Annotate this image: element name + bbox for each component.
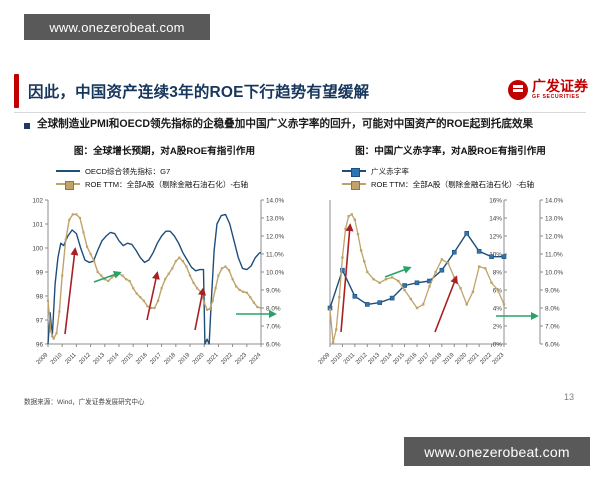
x-axis-ticks: 2009201020112012201320142015201620172018…	[318, 344, 506, 366]
svg-text:11.0%: 11.0%	[545, 252, 563, 259]
series-roe-line	[48, 214, 261, 338]
svg-text:9.0%: 9.0%	[545, 288, 560, 295]
arrow-red-3	[195, 290, 203, 330]
arrow-red-2	[147, 274, 157, 320]
svg-text:8.0%: 8.0%	[266, 306, 281, 313]
right-axis-ticks: 6.0%7.0%8.0%9.0%10.0%11.0%12.0%13.0%14.0…	[261, 198, 284, 349]
svg-text:2011: 2011	[64, 352, 78, 366]
svg-text:2014: 2014	[107, 352, 121, 366]
chart-right-plot: 0%2%4%6%8%10%12%14%16% 6.0%7.0%8.0%9.0%1…	[308, 192, 593, 377]
svg-text:4%: 4%	[493, 306, 503, 313]
title-divider	[14, 112, 586, 113]
svg-text:14.0%: 14.0%	[545, 198, 563, 205]
chart-panel-left: 图：全球增长预期，对A股ROE有指引作用 OECD综合领先指标：G7 ROE T…	[22, 143, 307, 398]
svg-text:12.0%: 12.0%	[266, 234, 284, 241]
svg-text:16%: 16%	[489, 198, 502, 205]
svg-text:102: 102	[32, 198, 43, 205]
svg-text:2014: 2014	[380, 352, 394, 366]
series-roe-markers	[329, 213, 505, 343]
svg-text:14%: 14%	[489, 216, 502, 223]
chart-left-svg: 96979899100101102 6.0%7.0%8.0%9.0%10.0%1…	[22, 192, 307, 377]
legend-label: ROE TTM：全部A股（剔除金融石油石化）-右轴	[85, 179, 248, 190]
svg-text:2018: 2018	[430, 352, 444, 366]
arrow-green-1	[385, 268, 409, 277]
svg-text:99: 99	[36, 270, 44, 277]
svg-text:13.0%: 13.0%	[545, 216, 563, 223]
title-accent-bar	[14, 74, 19, 108]
svg-text:101: 101	[32, 222, 43, 229]
svg-text:11.0%: 11.0%	[266, 252, 284, 259]
watermark-bottom: www.onezerobeat.com	[404, 437, 590, 466]
slide: www.onezerobeat.com 因此，中国资产连续3年的ROE下行趋势有…	[0, 0, 600, 480]
svg-text:2020: 2020	[192, 352, 206, 366]
svg-text:2021: 2021	[467, 352, 481, 366]
svg-text:2012: 2012	[78, 352, 92, 366]
svg-text:98: 98	[36, 294, 44, 301]
brand-logo: 广发证券 GF SECURITIES	[508, 79, 588, 100]
svg-text:2009: 2009	[36, 352, 50, 366]
svg-text:2010: 2010	[330, 352, 344, 366]
page-number: 13	[564, 392, 574, 402]
svg-text:2012: 2012	[355, 352, 369, 366]
left-axis-ticks: 96979899100101102	[32, 198, 48, 349]
svg-text:9.0%: 9.0%	[266, 288, 281, 295]
svg-text:6.0%: 6.0%	[545, 342, 560, 349]
arrow-red-1	[341, 226, 350, 332]
svg-text:13.0%: 13.0%	[266, 216, 284, 223]
svg-text:2022: 2022	[220, 352, 234, 366]
svg-text:2023: 2023	[235, 352, 249, 366]
chart-right-svg: 0%2%4%6%8%10%12%14%16% 6.0%7.0%8.0%9.0%1…	[308, 192, 593, 377]
svg-text:2013: 2013	[93, 352, 107, 366]
svg-text:2017: 2017	[149, 352, 163, 366]
svg-text:14.0%: 14.0%	[266, 198, 284, 205]
chart-panel-right: 图：中国广义赤字率，对A股ROE有指引作用 广义赤字率 ROE TTM：全部A股…	[308, 143, 593, 398]
svg-text:10.0%: 10.0%	[266, 270, 284, 277]
svg-text:2019: 2019	[178, 352, 192, 366]
svg-text:2020: 2020	[454, 352, 468, 366]
arrow-red-2	[435, 278, 456, 332]
logo-chinese-name: 广发证券	[532, 79, 588, 93]
svg-text:2016: 2016	[405, 352, 419, 366]
series-roe-markers	[47, 213, 262, 339]
logo-mark-icon	[508, 80, 528, 100]
annotation-arrows	[341, 226, 536, 332]
svg-text:2021: 2021	[206, 352, 220, 366]
svg-text:8%: 8%	[493, 270, 503, 277]
bullet-square-icon	[24, 123, 30, 129]
svg-text:10.0%: 10.0%	[545, 270, 563, 277]
legend-label: ROE TTM：全部A股（剔除金融石油石化）-右轴	[371, 179, 534, 190]
legend-item: OECD综合领先指标：G7	[56, 166, 307, 176]
watermark-top: www.onezerobeat.com	[24, 14, 210, 40]
svg-text:2009: 2009	[318, 352, 332, 366]
svg-text:0%: 0%	[493, 342, 503, 349]
svg-text:12.0%: 12.0%	[545, 234, 563, 241]
chart-left-plot: 96979899100101102 6.0%7.0%8.0%9.0%10.0%1…	[22, 192, 307, 377]
logo-english-name: GF SECURITIES	[532, 95, 588, 100]
svg-text:7.0%: 7.0%	[266, 324, 281, 331]
svg-text:97: 97	[36, 318, 44, 325]
svg-text:2010: 2010	[50, 352, 64, 366]
chart-right-legend: 广义赤字率 ROE TTM：全部A股（剔除金融石油石化）-右轴	[342, 166, 593, 189]
legend-item: ROE TTM：全部A股（剔除金融石油石化）-右轴	[342, 179, 593, 189]
bullet-row: 全球制造业PMI和OECD领先指标的企稳叠加中国广义赤字率的回升，可能对中国资产…	[24, 118, 584, 132]
series-deficit-markers	[328, 231, 506, 310]
svg-text:2024: 2024	[249, 352, 263, 366]
page-title: 因此，中国资产连续3年的ROE下行趋势有望缓解	[28, 80, 369, 102]
chart-right-title: 图：中国广义赤字率，对A股ROE有指引作用	[308, 143, 593, 157]
legend-item: 广义赤字率	[342, 166, 593, 176]
svg-text:2023: 2023	[492, 352, 506, 366]
svg-text:12%: 12%	[489, 234, 502, 241]
svg-text:7.0%: 7.0%	[545, 324, 560, 331]
svg-text:6.0%: 6.0%	[266, 342, 281, 349]
svg-text:2018: 2018	[164, 352, 178, 366]
svg-text:2016: 2016	[135, 352, 149, 366]
svg-text:2%: 2%	[493, 324, 503, 331]
svg-text:2017: 2017	[417, 352, 431, 366]
svg-text:2015: 2015	[392, 352, 406, 366]
svg-text:2019: 2019	[442, 352, 456, 366]
legend-label: OECD综合领先指标：G7	[85, 166, 170, 177]
logo-wordmark: 广发证券 GF SECURITIES	[532, 79, 588, 100]
arrow-red-1	[65, 250, 75, 334]
chart-left-legend: OECD综合领先指标：G7 ROE TTM：全部A股（剔除金融石油石化）-右轴	[56, 166, 307, 189]
svg-text:96: 96	[36, 342, 44, 349]
svg-text:2022: 2022	[479, 352, 493, 366]
series-roe-line	[330, 214, 504, 342]
legend-label: 广义赤字率	[371, 166, 409, 177]
outer-right-axis-ticks: 6.0%7.0%8.0%9.0%10.0%11.0%12.0%13.0%14.0…	[540, 198, 563, 349]
svg-text:8.0%: 8.0%	[545, 306, 560, 313]
source-footnote: 数据来源：Wind，广发证券发展研究中心	[24, 396, 145, 406]
bullet-text: 全球制造业PMI和OECD领先指标的企稳叠加中国广义赤字率的回升，可能对中国资产…	[37, 118, 533, 132]
svg-text:2013: 2013	[367, 352, 381, 366]
svg-text:2015: 2015	[121, 352, 135, 366]
chart-left-title: 图：全球增长预期，对A股ROE有指引作用	[22, 143, 307, 157]
series-oecd-line	[48, 214, 261, 344]
legend-item: ROE TTM：全部A股（剔除金融石油石化）-右轴	[56, 179, 307, 189]
svg-text:2011: 2011	[343, 352, 357, 366]
svg-text:100: 100	[32, 246, 43, 253]
x-axis-ticks: 2009201020112012201320142015201620172018…	[36, 344, 263, 366]
